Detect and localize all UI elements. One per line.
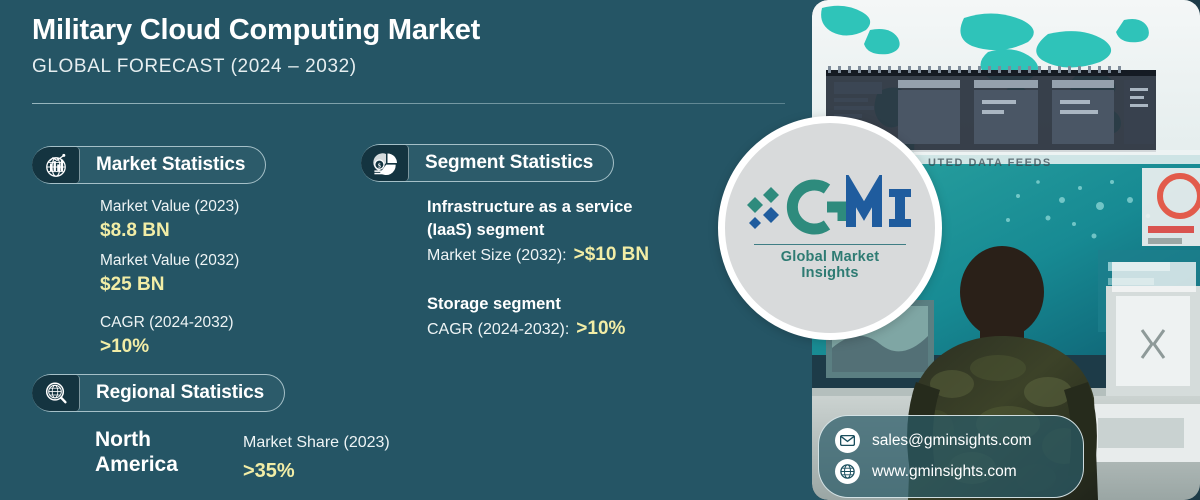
- contact-bar: sales@gminsights.com www.gminsights.com: [818, 415, 1084, 498]
- market-value-2032-label: Market Value (2032): [100, 250, 239, 272]
- region-figures: Market Share (2023) >35%: [243, 428, 390, 484]
- contact-email-row[interactable]: sales@gminsights.com: [819, 425, 1083, 456]
- spacer: [100, 304, 239, 312]
- pie-chart-money-icon: $: [361, 145, 409, 181]
- gmi-logo-tagline: Global Market Insights: [754, 244, 906, 281]
- page-title: Military Cloud Computing Market: [32, 14, 772, 47]
- region-market-share-label: Market Share (2023): [243, 432, 390, 455]
- spacer: [427, 267, 649, 293]
- infographic-root: Military Cloud Computing Market GLOBAL F…: [0, 0, 1200, 500]
- market-cagr-label: CAGR (2024-2032): [100, 312, 239, 334]
- market-cagr-value: >10%: [100, 334, 239, 359]
- section-header-segment-statistics: $ Segment Statistics: [361, 144, 614, 182]
- iaas-segment-name-line2: (IaaS) segment: [427, 219, 649, 242]
- globe-magnifier-icon: [32, 375, 80, 411]
- section-label-regional-statistics: Regional Statistics: [96, 382, 264, 404]
- section-label-market-statistics: Market Statistics: [96, 154, 245, 176]
- diamond-cluster-icon: [741, 175, 919, 237]
- region-market-share-value: >35%: [243, 458, 390, 484]
- gmi-logo-badge: Global Market Insights: [718, 116, 942, 340]
- photo-screen-text: UTED DATA FEEDS: [928, 157, 1052, 169]
- contact-website-row[interactable]: www.gminsights.com: [819, 456, 1083, 487]
- iaas-market-size-row: Market Size (2032): >$10 BN: [427, 242, 649, 268]
- page-subtitle: GLOBAL FORECAST (2024 – 2032): [32, 56, 772, 78]
- section-header-regional-statistics: Regional Statistics: [32, 374, 285, 412]
- iaas-market-size-value: >$10 BN: [574, 242, 650, 267]
- globe-bar-chart-icon: [32, 147, 80, 183]
- header-divider: [32, 103, 785, 104]
- market-value-2023-label: Market Value (2023): [100, 196, 239, 218]
- globe-icon: [835, 459, 860, 484]
- storage-cagr-value: >10%: [576, 316, 625, 341]
- iaas-segment-name-line1: Infrastructure as a service: [427, 196, 649, 219]
- regional-statistics-body: North America Market Share (2023) >35%: [95, 428, 390, 484]
- envelope-icon: [835, 428, 860, 453]
- storage-cagr-row: CAGR (2024-2032): >10%: [427, 316, 649, 342]
- storage-segment-name: Storage segment: [427, 293, 649, 316]
- market-statistics-body: Market Value (2023) $8.8 BN Market Value…: [100, 196, 239, 366]
- storage-cagr-label: CAGR (2024-2032):: [427, 319, 569, 342]
- segment-statistics-body: Infrastructure as a service (IaaS) segme…: [427, 196, 649, 342]
- title-block: Military Cloud Computing Market GLOBAL F…: [32, 14, 772, 78]
- section-header-market-statistics: Market Statistics: [32, 146, 266, 184]
- section-label-segment-statistics: Segment Statistics: [425, 152, 593, 174]
- gmi-logo-mark: [741, 175, 919, 237]
- market-value-2023-value: $8.8 BN: [100, 218, 239, 243]
- iaas-market-size-label: Market Size (2032):: [427, 245, 567, 268]
- market-value-2032-value: $25 BN: [100, 272, 239, 297]
- contact-email-text: sales@gminsights.com: [872, 432, 1032, 450]
- left-content-panel: Military Cloud Computing Market GLOBAL F…: [0, 0, 812, 500]
- contact-website-text: www.gminsights.com: [872, 463, 1017, 481]
- region-name: North America: [95, 428, 207, 478]
